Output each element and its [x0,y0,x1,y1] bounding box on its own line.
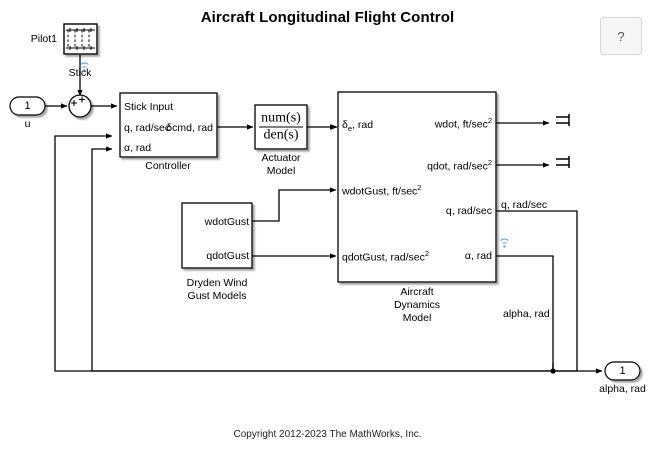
gust-block-name-line2: Gust Models [188,290,247,303]
aircraft-block-name-line2: Dynamics [394,299,440,312]
copyright-text: Copyright 2012-2023 The MathWorks, Inc. [0,429,655,440]
aircraft-input-qdotgust: qdotGust, rad/sec2 [342,250,429,264]
wire-q-feedback [55,136,577,371]
aircraft-block-name-line3: Model [403,312,432,325]
input-port-label: u [25,118,31,131]
gust-output-qdotgust: qdotGust [206,250,249,262]
controller-input-alpha: α, rad [124,142,151,154]
aircraft-output-alpha: α, rad [465,250,492,262]
pilot-block-label: Pilot1 [31,33,57,45]
signal-logging-badge-alpha [501,239,509,248]
aircraft-output-q: q, rad/sec [446,205,492,217]
aircraft-output-wdot: wdot, ft/sec2 [435,117,492,131]
aircraft-input-delta-e: δe, rad [342,119,373,134]
sum-block[interactable] [69,95,91,117]
pilot-source-block[interactable] [64,24,97,54]
output-port-number: 1 [619,365,625,377]
controller-block-name: Controller [145,160,191,173]
diagram-vector-layer [0,0,655,457]
actuator-block-name-line2: Model [267,165,296,178]
aircraft-output-qdot: qdot, rad/sec2 [427,159,492,173]
output-port-label: alpha, rad [599,383,646,396]
actuator-numerator: num(s) [259,111,303,128]
actuator-block-name-line1: Actuator [261,152,300,165]
controller-input-q: q, rad/sec [124,122,170,134]
actuator-denominator: den(s) [259,128,303,144]
gust-output-wdotgust: wdotGust [205,216,249,228]
controller-input-stick: Stick Input [124,101,173,113]
stick-signal-label: Stick [69,67,92,79]
controller-output-dcmd: δcmd, rad [166,122,213,134]
gust-block-name-line1: Dryden Wind [187,277,248,290]
signal-label-alpha-feedback: alpha, rad [503,308,550,320]
simulink-diagram-canvas: Aircraft Longitudinal Flight Control ? [0,0,655,457]
terminator-block-2[interactable] [556,156,569,168]
wire-wdotgust-to-aircraft [252,190,336,221]
aircraft-input-wdotgust: wdotGust, ft/sec2 [342,184,421,198]
terminator-block-1[interactable] [556,114,569,126]
actuator-transfer-function: num(s) den(s) [259,111,303,144]
input-port-number: 1 [24,100,30,112]
signal-label-q-feedback: q, rad/sec [501,199,547,211]
wire-alpha-to-output-port [550,368,602,373]
aircraft-block-name-line1: Aircraft [400,286,433,299]
